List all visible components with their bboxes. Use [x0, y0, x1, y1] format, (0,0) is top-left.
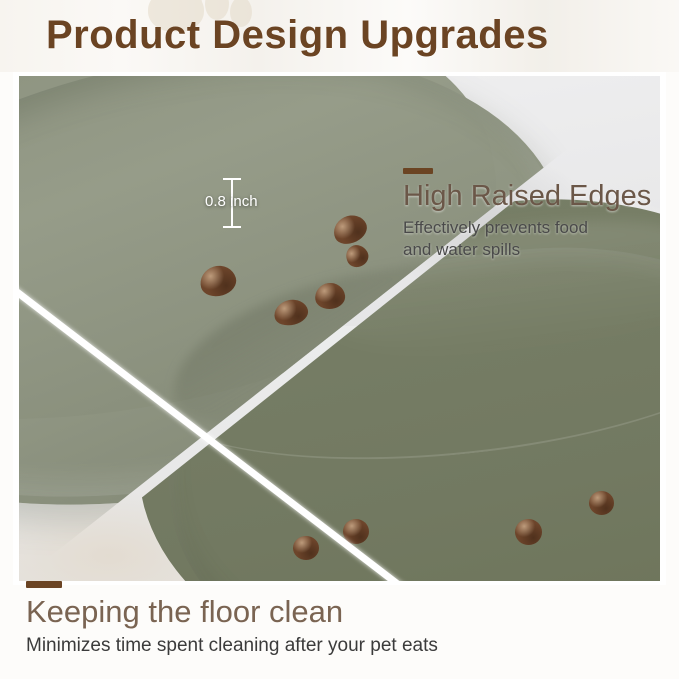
- accent-bar: [403, 168, 433, 174]
- accent-bar: [26, 581, 62, 588]
- photo-frame: sunipool 0.8 inch High Raised Edges Effe…: [13, 72, 666, 585]
- dimension-cap-top: [223, 178, 241, 180]
- kibble-piece: [293, 536, 319, 560]
- dimension-annotation: 0.8 inch: [205, 174, 301, 232]
- infographic-canvas: Product Design Upgrades: [0, 0, 679, 679]
- callout-body-line-2: and water spills: [403, 239, 660, 261]
- callout-high-raised-edges: High Raised Edges Effectively prevents f…: [403, 168, 660, 261]
- dimension-label: 0.8 inch: [205, 190, 301, 214]
- page-title: Product Design Upgrades: [46, 7, 549, 63]
- title-band: Product Design Upgrades: [0, 0, 679, 72]
- callout-keeping-floor-clean: Keeping the floor clean Minimizes time s…: [26, 581, 626, 658]
- kibble-piece: [515, 519, 542, 545]
- kibble-piece: [589, 491, 614, 515]
- callout-heading: Keeping the floor clean: [26, 593, 626, 631]
- callout-heading: High Raised Edges: [403, 179, 660, 213]
- callout-body: Minimizes time spent cleaning after your…: [26, 633, 626, 658]
- photo-inner: sunipool 0.8 inch High Raised Edges Effe…: [19, 76, 660, 581]
- dimension-cap-bottom: [223, 226, 241, 228]
- callout-body-line-1: Effectively prevents food: [403, 217, 660, 239]
